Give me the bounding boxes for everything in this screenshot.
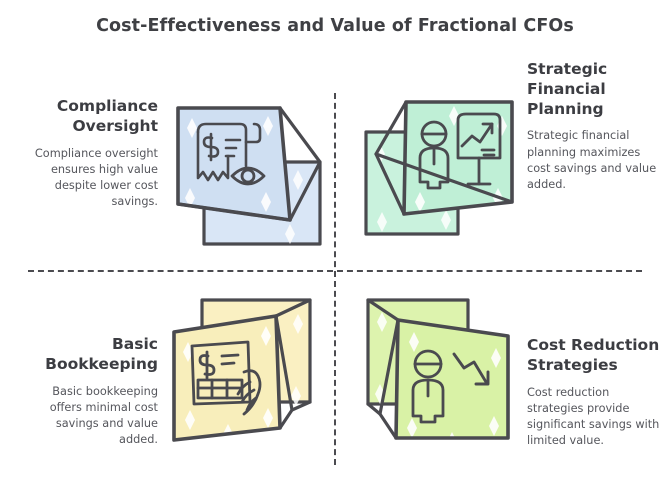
page-title: Cost-Effectiveness and Value of Fraction… [0,16,670,36]
quadrant-strategic-financial-planning-text: Strategic Financial Planning Strategic f… [527,60,662,193]
quadrant-cost-reduction-strategies-heading: Cost Reduction Strategies [527,336,662,376]
receipt-eye-icon [170,92,328,252]
quadrant-basic-bookkeeping-text: Basic Bookkeeping Basic bookkeeping offe… [18,335,158,448]
quadrant-strategic-financial-planning-heading: Strategic Financial Planning [527,60,662,119]
quadrant-cost-reduction-strategies-text: Cost Reduction Strategies Cost reduction… [527,336,662,449]
presenter-growth-chart-icon [362,92,520,252]
quadrant-divider-vertical [334,93,336,465]
quadrant-compliance-oversight-heading: Compliance Oversight [18,97,158,137]
ledger-hand-icon [170,298,328,460]
quadrant-strategic-financial-planning-body: Strategic financial planning maximizes c… [527,128,662,192]
quadrant-basic-bookkeeping-body: Basic bookkeeping offers minimal cost sa… [18,384,158,448]
person-declining-arrow-icon [358,292,520,458]
quadrant-compliance-oversight-text: Compliance Oversight Compliance oversigh… [18,97,158,210]
quadrant-compliance-oversight-body: Compliance oversight ensures high value … [18,146,158,210]
quadrant-cost-reduction-strategies-body: Cost reduction strategies provide signif… [527,385,662,449]
quadrant-basic-bookkeeping-heading: Basic Bookkeeping [18,335,158,375]
